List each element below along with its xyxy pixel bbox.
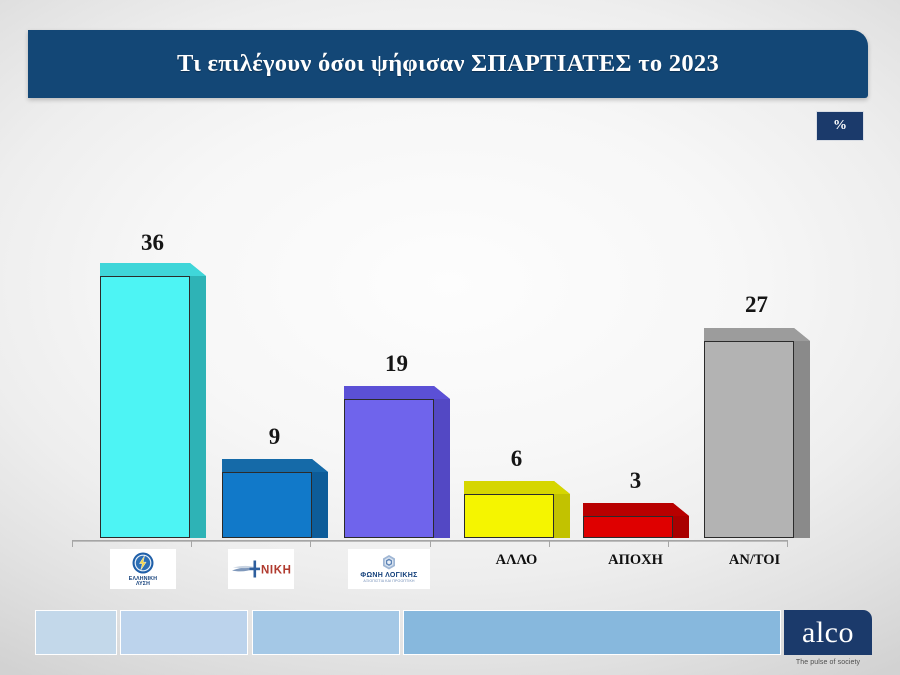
bar-side-face: [190, 263, 206, 538]
svg-text:ΝΙΚΗ: ΝΙΚΗ: [261, 565, 292, 577]
bar-front-face: [583, 516, 673, 538]
footer-segment: [403, 610, 781, 655]
bar-value-label: 19: [359, 351, 434, 377]
bar-top-face: [100, 263, 206, 276]
niki-emblem-icon: ΝΙΚΗ: [230, 558, 292, 580]
bar-front-face: [464, 494, 554, 538]
category-logo-niki: ΝΙΚΗ: [228, 549, 294, 589]
x-axis-tick: [668, 541, 669, 547]
bar-value-label: 9: [237, 424, 312, 450]
category-label-apoxi: ΑΠΟΧΗ: [583, 552, 688, 569]
bar-top-face: [344, 386, 450, 399]
category-logo-sublabel: ΑΞΙΟΠΙΣΤΙΑ ΚΑΙ ΠΡΟΟΠΤΙΚΗ: [363, 580, 414, 584]
bar-top-face: [583, 503, 689, 516]
bar-series-item: [464, 494, 569, 538]
x-axis-tick: [191, 541, 192, 547]
category-logo-elliniki-lysi: ΕΛΛΗΝΙΚΗΛΥΣΗ: [110, 549, 176, 589]
alco-wordmark: alco: [802, 618, 854, 648]
category-logo-label: ΦΩΝΗ ΛΟΓΙΚΗΣ: [360, 572, 417, 579]
category-label-an-toi: ΑΝ/ΤΟΙ: [702, 552, 807, 569]
footer-segment: [120, 610, 248, 655]
bar-series-item: [222, 472, 327, 538]
bar-series-item: [704, 341, 809, 538]
x-axis-tick: [787, 541, 788, 547]
bar-side-face: [434, 386, 450, 538]
bar-value-label: 6: [479, 446, 554, 472]
alco-tagline: The pulse of society: [784, 659, 872, 666]
alco-brand-logo: alco: [784, 610, 872, 655]
bar-value-label: 3: [598, 468, 673, 494]
x-axis-tick: [549, 541, 550, 547]
bar-front-face: [704, 341, 794, 538]
bar-top-face: [222, 459, 328, 472]
category-label-allo: ΑΛΛΟ: [464, 552, 569, 569]
bar-value-label: 27: [719, 292, 794, 318]
x-axis-tick: [72, 541, 73, 547]
bar-chart-plot-area: 36 9 19 6 3: [0, 0, 900, 675]
footer-segment: [35, 610, 117, 655]
x-axis-tick: [310, 541, 311, 547]
category-logo-foni-logikis: ΦΩΝΗ ΛΟΓΙΚΗΣ ΑΞΙΟΠΙΣΤΙΑ ΚΑΙ ΠΡΟΟΠΤΙΚΗ: [348, 549, 430, 589]
bar-front-face: [344, 399, 434, 538]
elliniki-lysi-emblem-icon: [131, 551, 155, 575]
bar-side-face: [794, 328, 810, 538]
bar-front-face: [100, 276, 190, 538]
category-logo-label: ΕΛΛΗΝΙΚΗΛΥΣΗ: [129, 577, 157, 588]
footer-segment: [252, 610, 400, 655]
bar-top-face: [704, 328, 810, 341]
bar-series-item: [583, 516, 688, 538]
bar-value-label: 36: [115, 230, 190, 256]
bar-top-face: [464, 481, 570, 494]
slide-canvas: Τι επιλέγουν όσοι ψήφισαν ΣΠΑΡΤΙΑΤΕΣ το …: [0, 0, 900, 675]
bar-series-item: [100, 276, 205, 538]
footer-bar: alco The pulse of society: [0, 605, 900, 675]
x-axis-tick: [430, 541, 431, 547]
bar-front-face: [222, 472, 312, 538]
bar-series-item: [344, 399, 449, 538]
foni-logikis-emblem-icon: [380, 554, 398, 571]
